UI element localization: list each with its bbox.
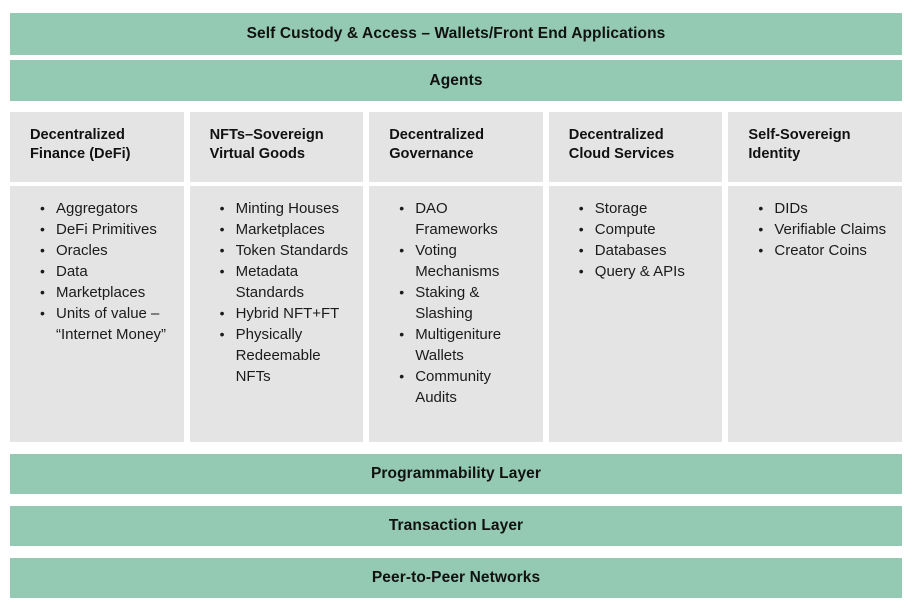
list-item: Physically Redeemable NFTs (220, 324, 354, 387)
list-item: Creator Coins (758, 240, 892, 261)
column-header: Decentralized Finance (DeFi) (10, 112, 184, 182)
layer-bar-label: Self Custody & Access – Wallets/Front En… (247, 25, 666, 43)
column-header: Decentralized Governance (369, 112, 543, 182)
layer-bar-agents: Agents (10, 60, 902, 101)
list-item: Storage (579, 198, 713, 219)
list-item: Multigeniture Wallets (399, 324, 533, 366)
list-item: Data (40, 261, 174, 282)
column-item-list: Storage Compute Databases Query & APIs (549, 198, 713, 282)
list-item: DAO Frameworks (399, 198, 533, 240)
column-item-list: DAO Frameworks Voting Mechanisms Staking… (369, 198, 533, 408)
list-item: Metadata Standards (220, 261, 354, 303)
layer-bar-label: Peer-to-Peer Networks (372, 569, 540, 587)
column-body: DIDs Verifiable Claims Creator Coins (728, 186, 902, 442)
layer-bar-label: Agents (429, 72, 482, 90)
column-item-list: Minting Houses Marketplaces Token Standa… (190, 198, 354, 387)
list-item: DeFi Primitives (40, 219, 174, 240)
column-title: Decentralized Finance (DeFi) (30, 127, 131, 162)
list-item: Voting Mechanisms (399, 240, 533, 282)
list-item: Marketplaces (220, 219, 354, 240)
column-decentralized-governance: Decentralized Governance DAO Frameworks … (369, 112, 543, 442)
column-title: Decentralized Cloud Services (569, 127, 674, 162)
column-decentralized-finance: Decentralized Finance (DeFi) Aggregators… (10, 112, 184, 442)
column-header: NFTs–Sovereign Virtual Goods (190, 112, 364, 182)
column-title: Self-Sovereign Identity (748, 127, 850, 162)
layer-bar-label: Transaction Layer (389, 517, 523, 535)
layer-bar-label: Programmability Layer (371, 465, 541, 483)
column-body: Storage Compute Databases Query & APIs (549, 186, 723, 442)
list-item: Databases (579, 240, 713, 261)
column-nfts-sovereign-virtual-goods: NFTs–Sovereign Virtual Goods Minting Hou… (190, 112, 364, 442)
list-item: Hybrid NFT+FT (220, 303, 354, 324)
layer-bar-programmability: Programmability Layer (10, 454, 902, 494)
column-title: NFTs–Sovereign Virtual Goods (210, 127, 324, 162)
column-item-list: DIDs Verifiable Claims Creator Coins (728, 198, 892, 261)
column-self-sovereign-identity: Self-Sovereign Identity DIDs Verifiable … (728, 112, 902, 442)
layer-bar-transaction: Transaction Layer (10, 506, 902, 546)
list-item: Units of value – “Internet Money” (40, 303, 174, 345)
column-item-list: Aggregators DeFi Primitives Oracles Data… (10, 198, 174, 345)
stack-diagram: Self Custody & Access – Wallets/Front En… (0, 0, 914, 609)
column-header: Self-Sovereign Identity (728, 112, 902, 182)
column-decentralized-cloud-services: Decentralized Cloud Services Storage Com… (549, 112, 723, 442)
list-item: Verifiable Claims (758, 219, 892, 240)
column-body: Minting Houses Marketplaces Token Standa… (190, 186, 364, 442)
category-columns: Decentralized Finance (DeFi) Aggregators… (10, 112, 902, 442)
list-item: Compute (579, 219, 713, 240)
list-item: Query & APIs (579, 261, 713, 282)
list-item: Oracles (40, 240, 174, 261)
column-body: Aggregators DeFi Primitives Oracles Data… (10, 186, 184, 442)
column-title: Decentralized Governance (389, 127, 484, 162)
list-item: Minting Houses (220, 198, 354, 219)
list-item: Aggregators (40, 198, 174, 219)
layer-bar-peer-to-peer: Peer-to-Peer Networks (10, 558, 902, 598)
list-item: Marketplaces (40, 282, 174, 303)
list-item: DIDs (758, 198, 892, 219)
layer-bar-self-custody: Self Custody & Access – Wallets/Front En… (10, 13, 902, 55)
column-header: Decentralized Cloud Services (549, 112, 723, 182)
list-item: Community Audits (399, 366, 533, 408)
list-item: Staking & Slashing (399, 282, 533, 324)
column-body: DAO Frameworks Voting Mechanisms Staking… (369, 186, 543, 442)
list-item: Token Standards (220, 240, 354, 261)
